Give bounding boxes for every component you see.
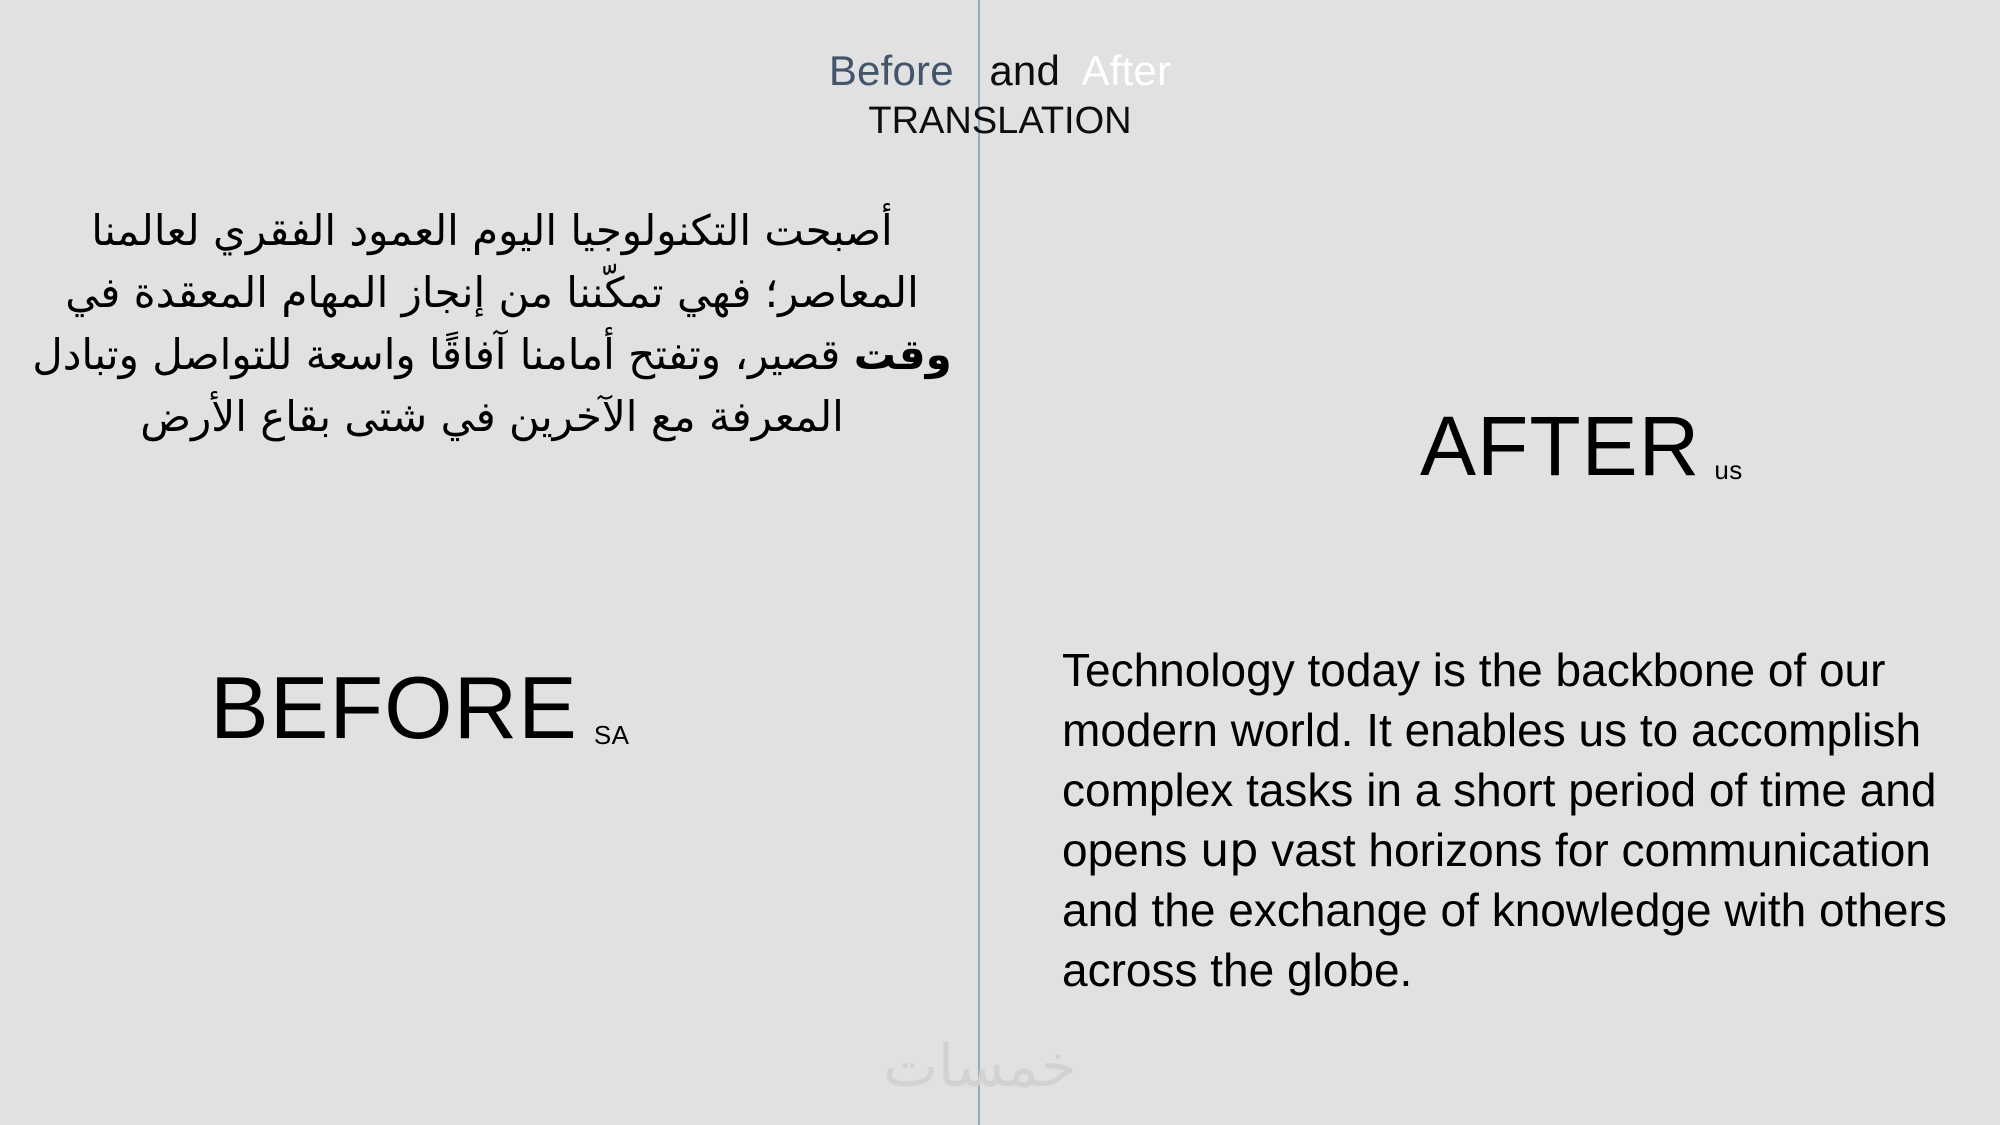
target-line-2: modern world. It enables us to accomplis… (1062, 704, 1921, 756)
after-label-locale: us (1700, 455, 1742, 485)
slide-canvas: Before and After TRANSLATION أصبحت التكن… (0, 0, 2000, 1125)
source-line-2-bold: وقت (854, 330, 952, 379)
before-label: BEFORESA (210, 660, 630, 756)
source-line-2-part-1: فهي تمكّننا من إنجاز المهام المعقدة في (65, 268, 751, 317)
slide-header: Before and After TRANSLATION (0, 45, 2000, 144)
header-title-line: Before and After (0, 45, 2000, 97)
after-label-title: AFTER (1420, 399, 1700, 493)
target-line-4-part-2: vast horizons for (1258, 824, 1608, 876)
header-word-and: and (989, 47, 1060, 94)
header-word-before: Before (829, 47, 954, 94)
source-line-2-part-2: قصير، (734, 330, 853, 379)
header-word-after: After (1081, 47, 1171, 94)
header-subtitle: TRANSLATION (0, 98, 2000, 144)
source-text-arabic: أصبحت التكنولوجيا اليوم العمود الفقري لع… (22, 200, 962, 448)
after-label: AFTERus (1420, 400, 1743, 492)
vertical-divider (978, 0, 980, 1125)
before-label-title: BEFORE (210, 658, 578, 757)
target-line-3: complex tasks in a short period of time (1062, 764, 1847, 816)
target-text-english: Technology today is the backbone of our … (1062, 640, 1962, 1000)
target-line-4-wide-word: up (1200, 823, 1258, 877)
watermark-khamsat: خمسات (860, 1030, 1100, 1102)
target-line-1: Technology today is the backbone of our (1062, 644, 1885, 696)
header-spacer-1 (954, 47, 990, 94)
before-label-locale: SA (578, 720, 630, 750)
header-spacer-2 (1060, 47, 1081, 94)
source-line-4: الآخرين في شتى بقاع الأرض (140, 392, 637, 441)
